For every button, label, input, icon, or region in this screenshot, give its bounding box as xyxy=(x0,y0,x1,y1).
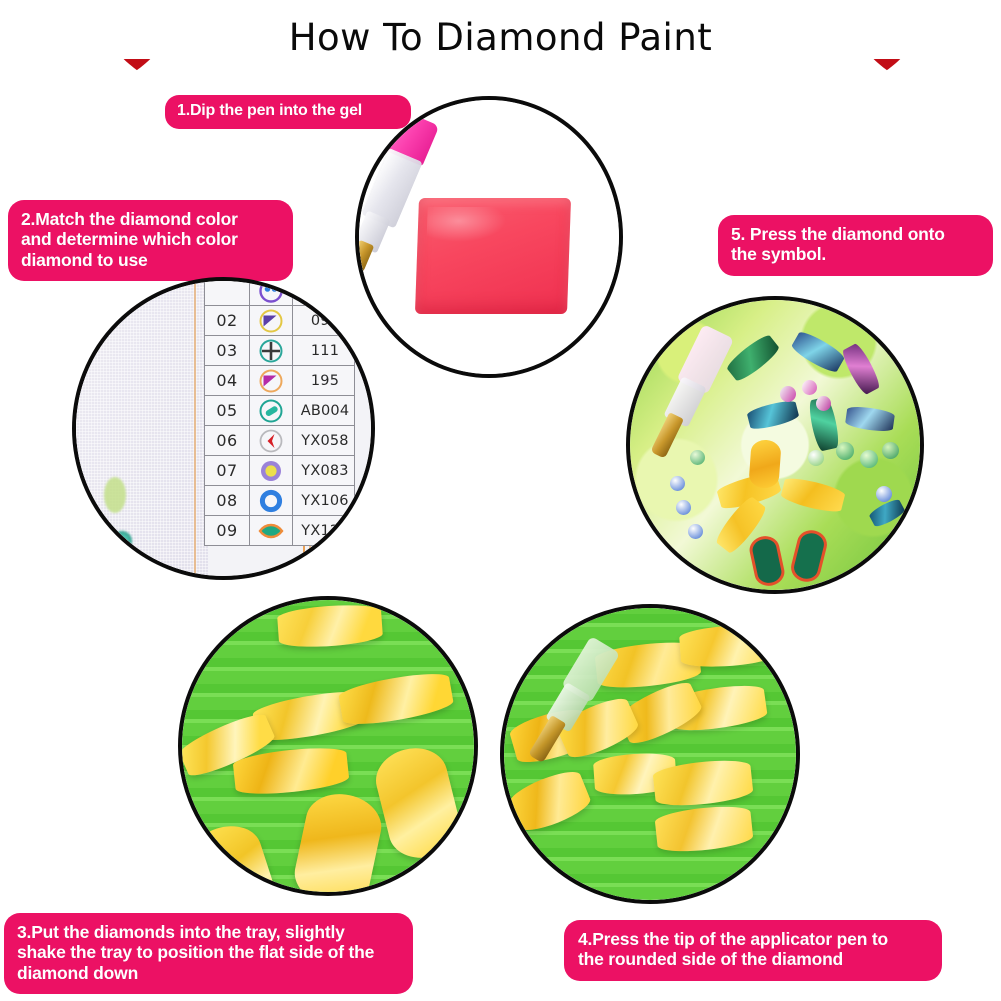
diamond-gem xyxy=(789,329,846,376)
diamond-gem xyxy=(860,450,878,468)
chart-symbol-cell xyxy=(250,426,293,456)
chart-code-cell: AB004 xyxy=(293,396,355,426)
table-row: 03 111 xyxy=(205,336,355,366)
gel-pad xyxy=(415,198,571,314)
chart-number-cell: 05 xyxy=(205,396,250,426)
chart-code-cell: YX106 xyxy=(293,486,355,516)
diamond-pressed-on-canvas-photo xyxy=(630,300,920,590)
header: How To Diamond Paint xyxy=(0,0,1001,86)
teal-circle-capsule-icon xyxy=(258,398,284,424)
step-3-line-1: 3.Put the diamonds into the tray, slight… xyxy=(17,922,400,942)
step-2-photo: 028 02 093 03 xyxy=(72,277,375,580)
page-title-text: How To Diamond Paint xyxy=(273,16,729,59)
step-5-line-1: 5. Press the diamond onto xyxy=(731,224,980,244)
yellow-diamond-gem xyxy=(654,803,754,855)
pen-tip xyxy=(359,240,374,274)
purple-circle-double-dot-icon xyxy=(258,281,284,304)
step-1-label: 1.Dip the pen into the gel xyxy=(165,95,411,129)
leaf-symbol xyxy=(788,527,830,585)
chart-number-cell xyxy=(205,281,250,306)
diamond-gem xyxy=(816,396,831,411)
table-row: 02 093 xyxy=(205,306,355,336)
step-2-line-3: diamond to use xyxy=(21,250,280,270)
chart-code-cell: 028 xyxy=(293,281,355,306)
step-4-label: 4.Press the tip of the applicator pen to… xyxy=(564,920,942,981)
step-1-line-1: 1.Dip the pen into the gel xyxy=(177,102,399,121)
table-row: 05 AB004 xyxy=(205,396,355,426)
diamond-gem xyxy=(808,450,824,466)
pen-pressing-diamond-photo xyxy=(504,608,796,900)
yellow-circle-purple-triangle-icon xyxy=(258,308,284,334)
pen-tip xyxy=(528,715,566,763)
diamond-gem xyxy=(840,342,883,396)
chart-rule-line xyxy=(194,281,196,576)
diamond-gem xyxy=(746,398,800,431)
yellow-diamond-gem xyxy=(337,669,455,730)
chart-code-cell: 195 xyxy=(293,366,355,396)
blue-ring-icon xyxy=(258,488,284,514)
diamond-gem xyxy=(802,380,817,395)
chart-code-cell: 093 xyxy=(293,306,355,336)
canvas-color-blob xyxy=(112,531,132,551)
yellow-diamond-gem xyxy=(679,623,778,670)
orange-outlined-teal-leaf-icon xyxy=(258,518,284,544)
chart-number-cell: 09 xyxy=(205,516,250,546)
chart-symbol-cell xyxy=(250,366,293,396)
diamond-color-chart-photo: 028 02 093 03 xyxy=(76,281,371,576)
chart-symbol-cell xyxy=(250,516,293,546)
step-4-photo xyxy=(500,604,800,904)
table-row: 06 YX058 xyxy=(205,426,355,456)
step-5-line-2: the symbol. xyxy=(731,244,980,264)
step-2-line-1: 2.Match the diamond color xyxy=(21,209,280,229)
chart-code-cell: 111 xyxy=(293,336,355,366)
chart-symbol-cell xyxy=(250,306,293,336)
yellow-diamond-gem xyxy=(182,817,285,892)
yellow-diamond-gem xyxy=(289,787,387,892)
pen-tip xyxy=(650,412,684,459)
table-row: 08 YX106 xyxy=(205,486,355,516)
orange-circle-magenta-triangle-icon xyxy=(258,368,284,394)
table-row: 028 xyxy=(205,281,355,306)
diamond-gem xyxy=(670,476,685,491)
diamond-gem xyxy=(780,386,796,402)
chart-code-cell: YX058 xyxy=(293,426,355,456)
color-chart-body: 028 02 093 03 xyxy=(205,281,355,546)
gray-circle-red-chevron-icon xyxy=(258,428,284,454)
step-2-line-2: and determine which color xyxy=(21,229,280,249)
chart-symbol-cell xyxy=(250,396,293,426)
applicator-pen xyxy=(633,322,738,476)
diamond-gem xyxy=(868,497,906,529)
yellow-diamond-gem xyxy=(780,475,846,515)
chart-number-cell: 02 xyxy=(205,306,250,336)
table-row: 09 YX125 xyxy=(205,516,355,546)
step-3-label: 3.Put the diamonds into the tray, slight… xyxy=(4,913,413,994)
table-row: 04 195 xyxy=(205,366,355,396)
step-3-photo xyxy=(178,596,478,896)
diamonds-in-tray-photo xyxy=(182,600,474,892)
chart-number-cell: 08 xyxy=(205,486,250,516)
step-4-line-1: 4.Press the tip of the applicator pen to xyxy=(578,929,928,949)
chart-symbol-cell xyxy=(250,281,293,306)
chart-symbol-cell xyxy=(250,486,293,516)
yellow-diamond-gem xyxy=(277,602,384,649)
step-1-photo xyxy=(355,96,623,378)
diamond-gem xyxy=(882,442,899,459)
step-3-line-3: diamond down xyxy=(17,963,400,983)
step-4-line-2: the rounded side of the diamond xyxy=(578,949,928,969)
step-3-line-2: shake the tray to position the flat side… xyxy=(17,942,400,962)
diamond-gem xyxy=(688,524,703,539)
chart-number-cell: 04 xyxy=(205,366,250,396)
yellow-diamond-gem xyxy=(370,741,466,865)
chart-number-cell: 07 xyxy=(205,456,250,486)
purple-ring-yellow-dot-icon xyxy=(258,458,284,484)
chart-symbol-cell xyxy=(250,336,293,366)
step-2-label: 2.Match the diamond color and determine … xyxy=(8,200,293,281)
chart-code-cell: YX125 xyxy=(293,516,355,546)
pen-dipping-into-gel-photo xyxy=(359,100,619,374)
step-5-label: 5. Press the diamond onto the symbol. xyxy=(718,215,993,276)
leaf-symbol xyxy=(747,533,787,588)
chart-symbol-cell xyxy=(250,456,293,486)
canvas-color-blob xyxy=(104,477,126,513)
diamond-gem xyxy=(876,486,892,502)
infographic-canvas: How To Diamond Paint 1.Dip the pen into … xyxy=(0,0,1001,1001)
color-chart-table: 028 02 093 03 xyxy=(204,281,355,546)
diamond-gem xyxy=(845,405,896,433)
diamond-gem xyxy=(836,442,854,460)
step-5-photo xyxy=(626,296,924,594)
teal-circle-cross-icon xyxy=(258,338,284,364)
page-title: How To Diamond Paint xyxy=(0,16,1001,59)
chart-code-cell: YX083 xyxy=(293,456,355,486)
table-row: 07 YX083 xyxy=(205,456,355,486)
diamond-gem xyxy=(676,500,691,515)
canvas-fabric xyxy=(76,281,208,576)
diamond-gem xyxy=(690,450,705,465)
chart-number-cell: 03 xyxy=(205,336,250,366)
yellow-diamond-gem-on-tip xyxy=(748,439,781,489)
chart-number-cell: 06 xyxy=(205,426,250,456)
